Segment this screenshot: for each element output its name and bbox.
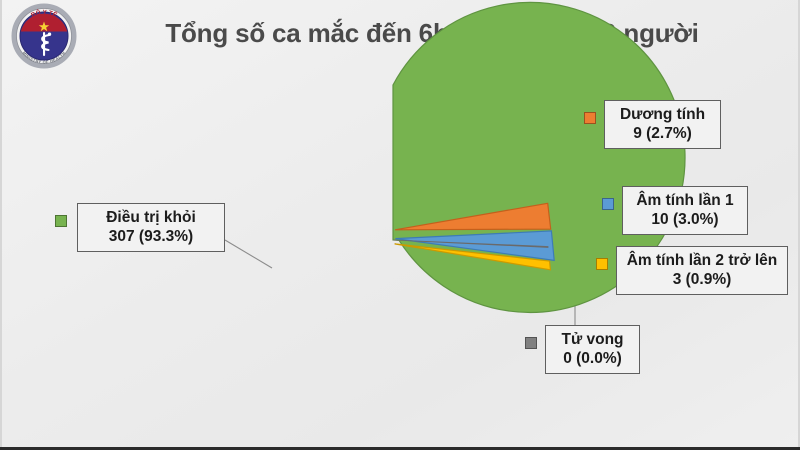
- swatch-recovered: [55, 215, 67, 227]
- callout-negative-2-plus[interactable]: Âm tính lần 2 trở lên 3 (0.9%): [616, 246, 788, 295]
- callout-positive-label: Dương tính: [612, 105, 713, 124]
- swatch-positive: [584, 112, 596, 124]
- callout-negative-1-label: Âm tính lần 1: [630, 191, 740, 210]
- callout-recovered[interactable]: Điều trị khỏi 307 (93.3%): [77, 203, 225, 252]
- callout-death[interactable]: Tử vong 0 (0.0%): [545, 325, 640, 374]
- frame-edge-left: [0, 0, 2, 450]
- callout-negative-1[interactable]: Âm tính lần 1 10 (3.0%): [622, 186, 748, 235]
- callout-recovered-label: Điều trị khỏi: [85, 208, 217, 227]
- slide-canvas: BỘ Y TẾ MINISTRY OF HEALTH Tổng số ca mắ…: [0, 0, 800, 450]
- callout-recovered-value: 307 (93.3%): [85, 227, 217, 246]
- callout-positive-value: 9 (2.7%): [612, 124, 713, 143]
- callout-negative-2-plus-value: 3 (0.9%): [624, 270, 780, 289]
- callout-death-value: 0 (0.0%): [553, 349, 632, 368]
- swatch-negative-2-plus: [596, 258, 608, 270]
- callout-negative-1-value: 10 (3.0%): [630, 210, 740, 229]
- callout-negative-2-plus-label: Âm tính lần 2 trở lên: [624, 251, 780, 270]
- swatch-negative-1: [602, 198, 614, 210]
- swatch-death: [525, 337, 537, 349]
- callout-death-label: Tử vong: [553, 330, 632, 349]
- leader-line-recovered: [225, 240, 272, 268]
- callout-positive[interactable]: Dương tính 9 (2.7%): [604, 100, 721, 149]
